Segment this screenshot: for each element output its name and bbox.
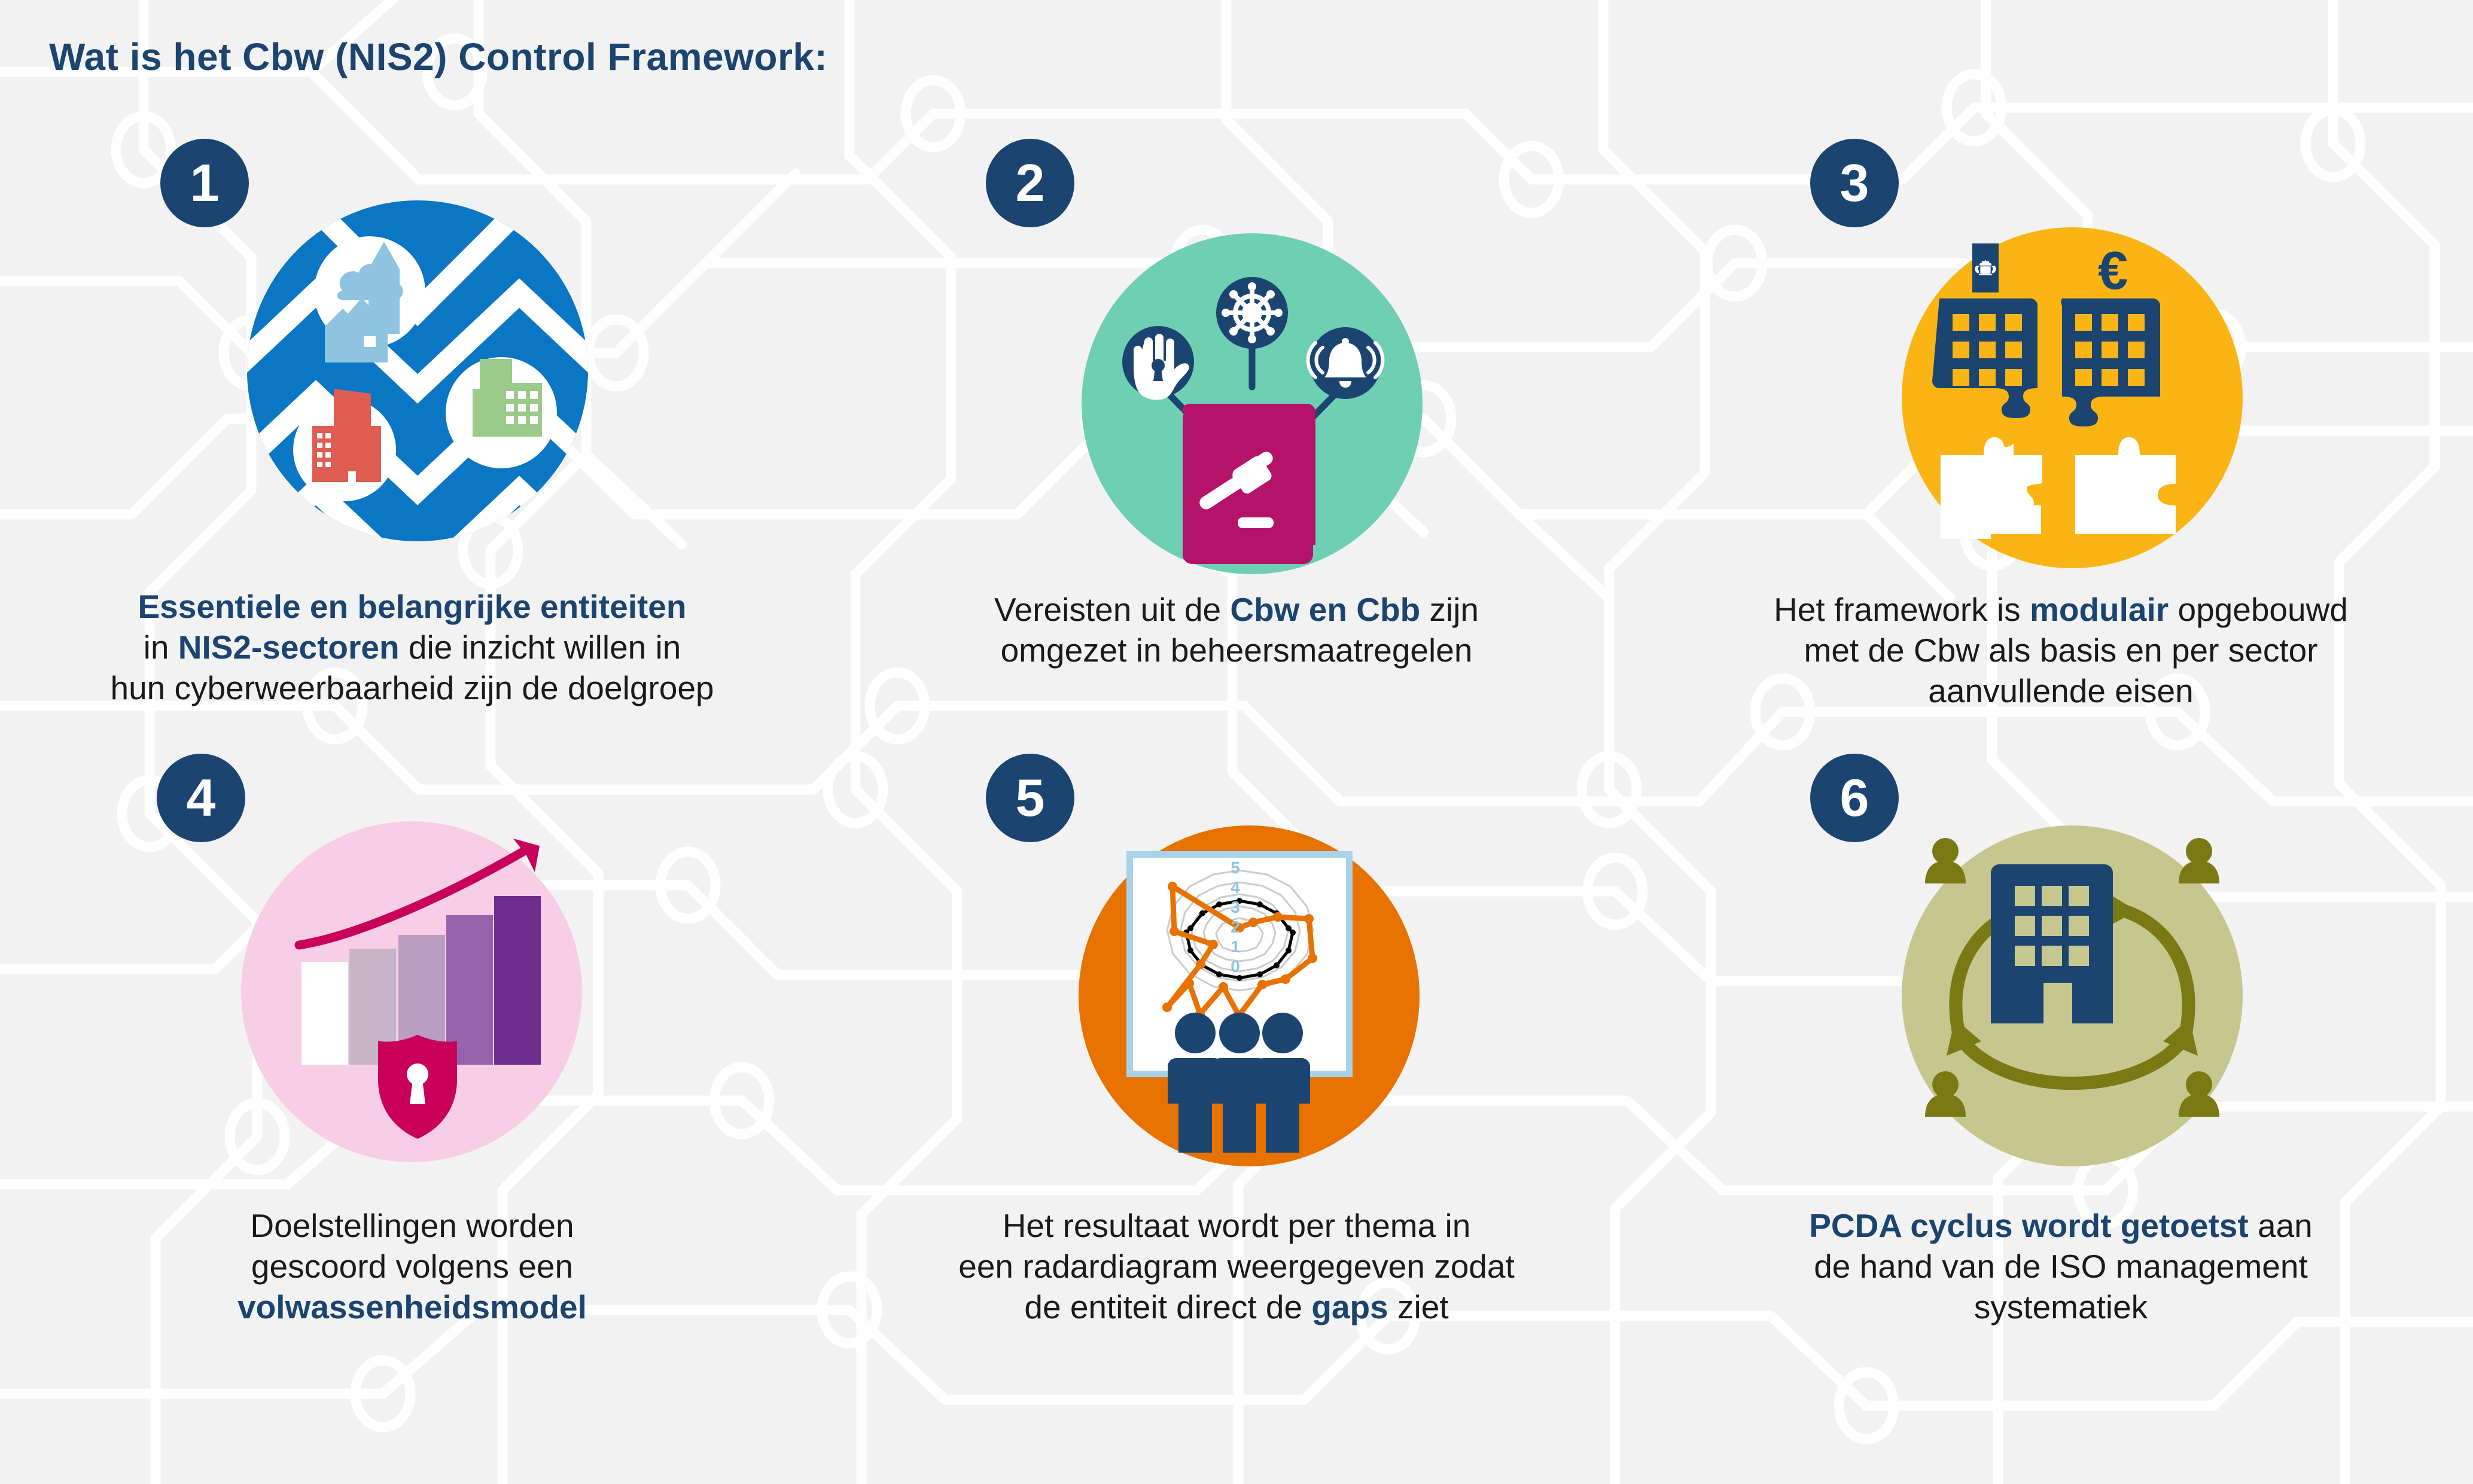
svg-text:0: 0 — [1231, 957, 1240, 976]
modular-puzzle-buildings-icon: € — [1893, 218, 2252, 577]
step-number-badge-5: 5 — [986, 754, 1074, 842]
page-title: Wat is het Cbw (NIS2) Control Framework: — [49, 35, 827, 79]
pdca-cycle-organisation-icon — [1893, 816, 2252, 1175]
svg-text:1: 1 — [1231, 937, 1240, 956]
framework-item-6: 6 — [1649, 724, 2473, 1346]
step-number-badge-1: 1 — [160, 139, 249, 227]
framework-item-5-caption: Het resultaat wordt per thema ineen rada… — [824, 1205, 1649, 1328]
law-book-icon — [1181, 404, 1315, 564]
step-number-badge-6: 6 — [1810, 754, 1899, 842]
framework-item-4-caption: Doelstellingen wordengescoord volgens ee… — [0, 1205, 824, 1328]
framework-item-3: 3 — [1649, 102, 2473, 724]
svg-text:5: 5 — [1231, 858, 1240, 877]
step-number-badge-3: 3 — [1810, 139, 1899, 227]
euro-symbol: € — [2098, 241, 2128, 301]
svg-text:2: 2 — [1231, 918, 1240, 936]
framework-item-4: 4 — [0, 724, 824, 1346]
nis2-sectors-network-icon — [238, 191, 597, 550]
step-number-badge-2: 2 — [986, 139, 1074, 227]
people-group-icon — [1168, 1013, 1310, 1153]
framework-item-3-caption: Het framework is modulair opgebouwdmet d… — [1649, 589, 2473, 712]
framework-item-5: 5 — [824, 724, 1649, 1346]
radar-diagram-presentation-icon: 5 4 3 2 1 0 — [1070, 816, 1429, 1175]
framework-item-2: 2 — [824, 102, 1649, 724]
framework-item-1-caption: Essentiele en belangrijke entiteitenin N… — [0, 586, 824, 709]
svg-text:4: 4 — [1231, 878, 1240, 897]
framework-item-2-caption: Vereisten uit de Cbw en Cbb zijnomgezet … — [824, 589, 1649, 671]
svg-text:3: 3 — [1231, 898, 1240, 916]
office-building-icon — [1991, 864, 2113, 1023]
framework-item-6-caption: PCDA cyclus wordt getoetst aande hand va… — [1649, 1205, 2473, 1328]
framework-items-grid: 1 — [0, 102, 2473, 1346]
law-book-gavel-icon — [1073, 224, 1432, 583]
ships-wheel-icon — [1216, 277, 1288, 349]
government-building-icon — [1972, 243, 1999, 292]
maturity-growth-chart-shield-icon — [232, 812, 591, 1171]
framework-item-1: 1 — [0, 102, 824, 724]
step-number-badge-4: 4 — [157, 754, 245, 842]
